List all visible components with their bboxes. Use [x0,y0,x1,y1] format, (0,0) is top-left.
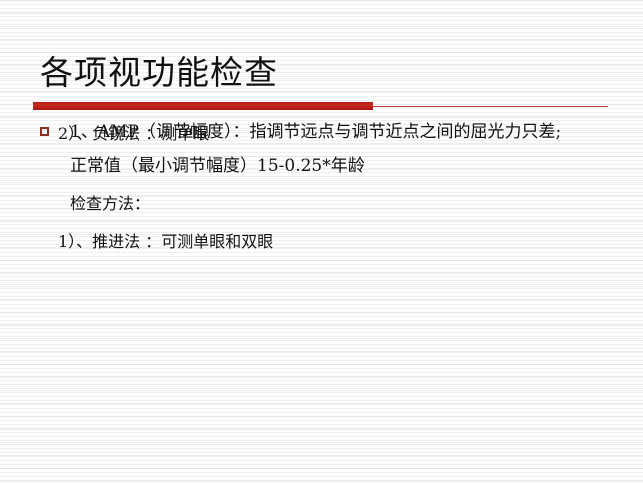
line-2-text: 正常值（最小调节幅度） [70,156,257,176]
line-2-suffix: 年龄 [331,156,365,176]
square-bullet-icon [40,127,49,136]
body-line-4: 1）、推进法 ：可测单眼和双眼 [58,230,273,254]
body-line-2: 正常值（最小调节幅度）15-0.25*年龄 [70,154,365,178]
title-rule-thick [33,102,373,110]
body-line-5: 2）、负镜法 ：测单眼 [58,120,209,144]
body-line-3: 检查方法： [70,192,150,216]
slide: 各项视功能检查 1、AMP（调节幅度）：指调节远点与调节近点之间的屈光力只差; … [0,0,643,483]
page-title: 各项视功能检查 [40,53,278,93]
line-2-latin: 15-0.25* [257,156,331,176]
